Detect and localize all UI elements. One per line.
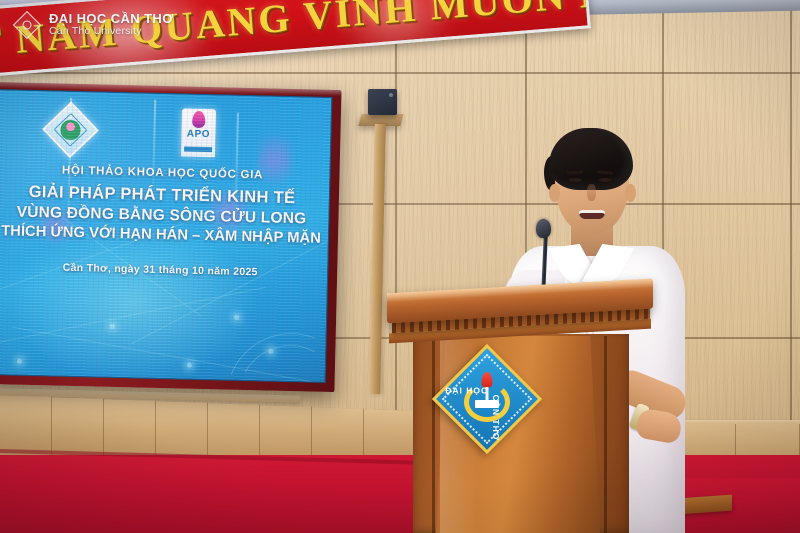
mouth xyxy=(579,210,605,219)
eye-right xyxy=(599,178,612,182)
ctu-diamond-logo-icon xyxy=(14,12,40,38)
apo-flame-logo-icon: APO xyxy=(181,108,216,157)
ctu-emblem-icon xyxy=(42,102,99,159)
ear-right xyxy=(625,184,636,202)
conference-photo-scene: APO HỘI THẢO KHOA HỌC QUỐC GIA GIẢI PHÁP… xyxy=(0,0,800,533)
led-presentation-screen[interactable]: APO HỘI THẢO KHOA HỌC QUỐC GIA GIẢI PHÁP… xyxy=(0,82,342,392)
apo-logo-label: APO xyxy=(181,128,215,140)
watermark-line-2: Can Tho University xyxy=(49,26,174,38)
ear-left xyxy=(549,184,560,202)
eye-left xyxy=(569,178,582,182)
podium-seam-right xyxy=(604,336,607,533)
podium-emblem-core xyxy=(462,374,512,424)
podium-seam-left xyxy=(432,336,435,533)
podium-emblem-label-left: ĐẠI HỌC xyxy=(445,385,488,395)
podium-emblem-label-right: CẦN THƠ xyxy=(491,394,501,440)
wall-mounted-sensor-icon xyxy=(368,89,397,115)
microphone-icon xyxy=(536,219,551,238)
nose xyxy=(587,184,596,201)
screen-surface: APO HỘI THẢO KHOA HỌC QUỐC GIA GIẢI PHÁP… xyxy=(0,89,332,383)
screen-text-block: HỘI THẢO KHOA HỌC QUỐC GIA GIẢI PHÁP PHÁ… xyxy=(0,162,330,281)
hair xyxy=(549,128,633,190)
watermark: ĐẠI HỌC CẦN THƠ Can Tho University xyxy=(14,8,214,42)
screen-logo-row: APO xyxy=(0,104,331,168)
